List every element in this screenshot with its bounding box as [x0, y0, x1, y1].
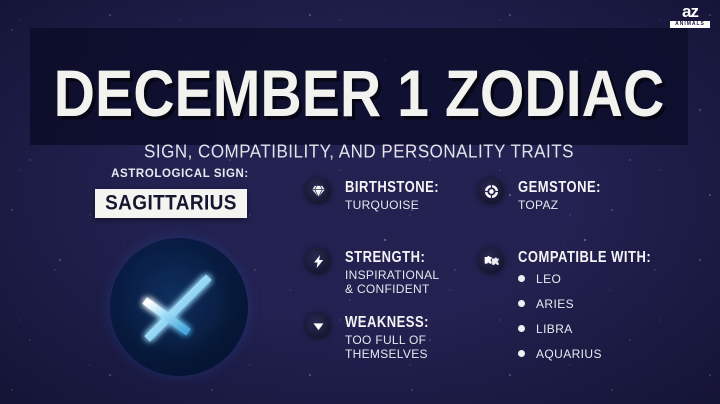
fact-weakness-value: TOO FULL OF THEMSELVES: [345, 333, 428, 361]
logo-tagline: ANIMALS: [670, 21, 710, 28]
fact-birthstone-title: BIRTHSTONE:: [345, 178, 439, 196]
az-animals-logo[interactable]: az ANIMALS: [670, 3, 710, 28]
sagittarius-arrow-glyph-icon: [127, 255, 231, 359]
logo-wordmark: az: [670, 3, 710, 20]
compatible-signs-list: LEO ARIES LIBRA AQUARIUS: [518, 273, 602, 373]
astrological-sign-box: SAGITTARIUS: [95, 189, 247, 218]
title-banner: DECEMBER 1 ZODIAC SIGN, COMPATIBILITY, A…: [30, 28, 688, 145]
fact-birthstone-value: TURQUOISE: [345, 198, 419, 212]
page-subtitle: SIGN, COMPATIBILITY, AND PERSONALITY TRA…: [30, 141, 688, 162]
round-gem-icon: [478, 178, 504, 204]
sagittarius-glyph-medallion: [110, 238, 248, 376]
diamond-gem-icon: [305, 178, 331, 204]
list-item: AQUARIUS: [518, 348, 602, 373]
list-item: LEO: [518, 273, 602, 298]
puzzle-pieces-icon: [478, 248, 504, 274]
lightning-bolt-icon: [305, 248, 331, 274]
zodiac-infographic: DECEMBER 1 ZODIAC SIGN, COMPATIBILITY, A…: [0, 0, 720, 404]
fact-compatible-title: COMPATIBLE WITH:: [518, 248, 651, 266]
list-item: ARIES: [518, 298, 602, 323]
astrological-sign-label: ASTROLOGICAL SIGN:: [100, 168, 260, 180]
fact-gemstone-value: TOPAZ: [518, 198, 558, 212]
fact-strength-value: INSPIRATIONAL & CONFIDENT: [345, 268, 439, 296]
fact-gemstone-title: GEMSTONE:: [518, 178, 601, 196]
fact-strength-title: STRENGTH:: [345, 248, 425, 266]
fact-weakness-title: WEAKNESS:: [345, 313, 429, 331]
astrological-sign-name: SAGITTARIUS: [105, 191, 237, 216]
list-item: LIBRA: [518, 323, 602, 348]
down-triangle-icon: [305, 313, 331, 339]
page-title: DECEMBER 1 ZODIAC: [10, 61, 707, 127]
